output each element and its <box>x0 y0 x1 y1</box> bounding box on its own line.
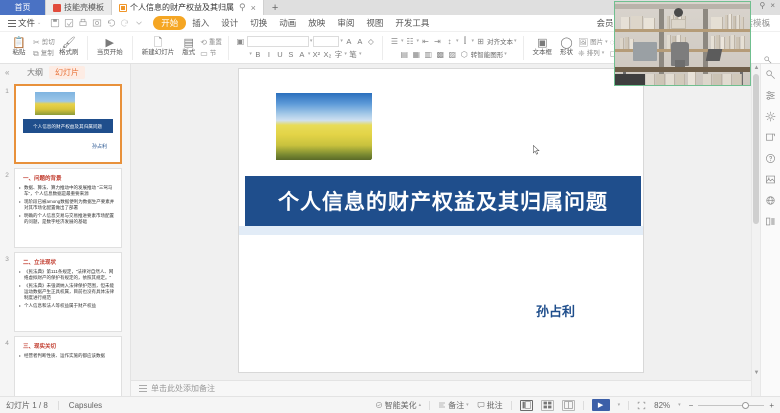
align-justify-icon[interactable]: ▩ <box>435 49 446 60</box>
align-left-icon[interactable]: ▤ <box>399 49 410 60</box>
paste-icon: 📋 <box>12 38 26 49</box>
slide-thumbnail-1[interactable]: 个人信息的财产权益及其归属问题 孙占利 <box>14 84 122 164</box>
font-name-input[interactable] <box>247 36 309 47</box>
font-group: ▣ ▾ ▾ A A ◇ ▾ B I U S A ▾ X² X₂ 字 ▾ <box>231 32 380 64</box>
align-center-icon[interactable]: ▦ <box>411 49 422 60</box>
indent-increase-icon[interactable]: ⇥ <box>432 36 443 47</box>
picture-button[interactable]: 🖼图片▾ <box>578 38 608 47</box>
book <box>741 17 744 29</box>
pin-icon[interactable]: ⚲ <box>239 2 246 13</box>
slide-navigator-panel: « 大纲 幻灯片 1 个人信息的财产权益及其归属问题 孙占利 <box>0 64 131 396</box>
align-distribute-icon[interactable]: ▨ <box>447 49 458 60</box>
divider <box>382 36 383 60</box>
picture-label: 图片 <box>590 38 603 47</box>
divider <box>628 401 629 410</box>
tab-design[interactable]: 设计 <box>215 16 244 30</box>
zoom-slider[interactable]: − + <box>689 401 774 410</box>
notes-toggle-button[interactable]: 备注 ▾ <box>438 400 469 411</box>
fit-to-window-icon <box>637 401 646 410</box>
storage-box <box>646 74 655 86</box>
format-painter-button[interactable]: 🖌 格式刷 <box>57 38 81 57</box>
list-item[interactable]: 1 个人信息的财产权益及其归属问题 孙占利 <box>0 82 130 166</box>
start-from-current-button[interactable]: ▶ 当页开始 <box>94 38 126 57</box>
font-row-2: ▾ B I U S A ▾ X² X₂ 字 ▾ 笔 ▾ <box>249 49 361 60</box>
tab-start[interactable]: 开始 <box>153 16 186 30</box>
comments-button[interactable]: 批注 <box>477 400 503 411</box>
storage-box <box>703 74 712 86</box>
storage-box <box>733 74 742 86</box>
superscript-button[interactable]: X² <box>311 49 321 60</box>
textbox-label: 文本框 <box>533 50 553 57</box>
thumbnail-bullet: 经营者判断性质、运作实施的都应该数据 <box>24 353 115 359</box>
chevron-down-icon[interactable]: ▾ <box>401 38 404 44</box>
storage-box <box>666 74 675 86</box>
chevron-down-icon[interactable]: ▾ <box>514 38 517 44</box>
reading-view-icon[interactable] <box>562 400 575 411</box>
collapse-panel-button[interactable]: « <box>5 68 21 77</box>
bullets-icon[interactable]: ☰ <box>389 36 400 47</box>
chevron-down-icon: ⌄ <box>37 20 41 26</box>
theme-name[interactable]: Capsules <box>69 401 102 410</box>
slide-thumbnail-list[interactable]: 1 个人信息的财产权益及其归属问题 孙占利 2 一、问题的背景 数据、算法、算力 <box>0 81 130 396</box>
status-bar: 幻灯片 1 / 8 Capsules 智能美化 ▴ 备注 ▾ 批注 <box>0 396 780 413</box>
storage-box <box>656 74 665 86</box>
shape-icon: ◯ <box>560 38 572 49</box>
column-layout-icon[interactable]: ⫿ <box>459 36 470 47</box>
scrollbar-thumb[interactable] <box>753 74 759 224</box>
ribbon-tabs: 开始 插入 设计 切换 动画 放映 审阅 视图 开发工具 <box>153 16 435 30</box>
thumbnail-bullet: 个人信息和法人等权益属于财产权益 <box>24 303 115 309</box>
book <box>725 15 728 29</box>
help-circle-icon[interactable] <box>764 152 777 165</box>
book <box>729 14 732 29</box>
divider <box>132 36 133 60</box>
ppt-doc-icon <box>119 4 127 12</box>
print-icon[interactable] <box>78 18 88 28</box>
slide-counter: 幻灯片 1 / 8 <box>6 400 48 411</box>
divider <box>429 401 430 410</box>
chevron-down-icon[interactable]: ▾ <box>471 38 474 44</box>
paste-label: 粘贴 <box>13 50 26 57</box>
notes-pane[interactable]: 单击此处添加备注 <box>131 380 751 396</box>
strikethrough-button[interactable]: S <box>286 49 296 60</box>
clipboard-small-buttons: ✂剪切 ⧉复制 <box>33 38 55 58</box>
slide-number: 2 <box>2 168 12 179</box>
layout-label: 版式 <box>182 50 195 57</box>
slide-canvas[interactable]: 个人信息的财产权益及其归属问题 孙占利 <box>239 69 643 372</box>
picture-icon: 🖼 <box>578 38 588 47</box>
tab-template-doc[interactable]: 技能壳模板 <box>46 0 112 15</box>
camera-overlay-side-controls: ⌃ <box>763 22 773 67</box>
zoom-track[interactable] <box>698 405 764 406</box>
save-as-icon[interactable] <box>64 18 74 28</box>
reset-label: 重置 <box>209 38 222 47</box>
slideshow-group: ▶ 当页开始 <box>90 32 130 64</box>
book <box>716 35 720 49</box>
start-here-label: 当页开始 <box>97 50 123 57</box>
slides-group: 🗋 新建幻灯片 ▤ 版式 ⟲重置 ▭节 <box>135 32 226 64</box>
book <box>625 37 629 49</box>
tab-slideshow[interactable]: 放映 <box>302 16 331 30</box>
tab-slides[interactable]: 幻灯片 <box>49 66 85 79</box>
new-slide-button[interactable]: 🗋 新建幻灯片 <box>139 38 178 57</box>
text-effects-icon[interactable]: ▣ <box>235 36 246 47</box>
slide-number: 4 <box>2 336 12 347</box>
section-label: 节 <box>210 49 217 58</box>
laptop <box>706 49 723 61</box>
reset-icon: ⟲ <box>200 38 207 47</box>
fit-to-window-button[interactable] <box>637 401 646 410</box>
camera-overlay-controls: ⚲ × <box>759 1 775 10</box>
indent-decrease-icon[interactable]: ⇤ <box>420 36 431 47</box>
smart-beautify-button[interactable]: 智能美化 ▴ <box>375 400 422 411</box>
chevron-down-icon[interactable]: ▾ <box>340 38 343 44</box>
tab-review[interactable]: 审阅 <box>331 16 360 30</box>
scroll-up-arrow[interactable]: ▲ <box>753 65 760 71</box>
text-align-icon[interactable]: ⊞ <box>475 36 486 47</box>
adjust-sliders-icon[interactable] <box>764 89 777 102</box>
slide-number: 1 <box>2 84 12 95</box>
tab-animation[interactable]: 动画 <box>273 16 302 30</box>
thumbnail-photo <box>34 91 76 116</box>
print-preview-icon[interactable] <box>92 18 102 28</box>
bold-button[interactable]: B <box>253 49 263 60</box>
storage-box <box>676 74 685 86</box>
book <box>621 17 630 29</box>
home-tab-label: 首页 <box>15 2 31 13</box>
list-item[interactable]: 3 二、立法现状 《民法典》第111条规定，"法律对自然人、网络虚拟财产的保护有… <box>0 250 130 334</box>
book <box>731 35 735 49</box>
line-spacing-icon[interactable]: ↕ <box>444 36 455 47</box>
textbox-icon: ▣ <box>537 38 547 49</box>
tab-insert[interactable]: 插入 <box>186 16 215 30</box>
thumbnail-bullet: 明确的个人信息交易与交易推进要素市场配置的问题，是数字经济发展的基础 <box>24 213 115 225</box>
storage-box <box>723 74 732 86</box>
slide-canvas-container[interactable]: 个人信息的财产权益及其归属问题 孙占利 <box>131 64 751 380</box>
settings-icon[interactable] <box>763 55 773 67</box>
chevron-up-icon[interactable]: ▴ <box>419 402 422 408</box>
list-item[interactable]: 2 一、问题的背景 数据、算法、算力推动中的发展推动 "三驾马车"，个人信息数据… <box>0 166 130 250</box>
brush-design-icon[interactable] <box>764 68 777 81</box>
ceiling-beam <box>615 4 751 9</box>
shelf-board <box>615 29 750 32</box>
undo-icon[interactable] <box>106 18 116 28</box>
storage-box <box>688 72 696 86</box>
slide-number: 3 <box>2 252 12 263</box>
wps-presentation-window: 首页 技能壳模板 个人信息的财产权益及其归属 ⚲ × + 文件 ⌄ <box>0 0 780 413</box>
thumbnail-title-bar: 个人信息的财产权益及其归属问题 <box>23 119 113 133</box>
comments-label: 批注 <box>487 400 503 411</box>
scissors-icon: ✂ <box>33 38 40 47</box>
char-shading-button[interactable]: 字 <box>333 49 343 60</box>
section-button[interactable]: ▭节 <box>200 49 222 58</box>
divider <box>511 401 512 410</box>
notes-placeholder: 单击此处添加备注 <box>151 383 215 394</box>
decor-sphere <box>674 8 683 17</box>
scroll-down-arrow[interactable]: ▼ <box>753 370 760 376</box>
ai-sphere-icon[interactable] <box>764 194 777 207</box>
cut-button[interactable]: ✂剪切 <box>33 38 55 47</box>
book <box>737 15 740 29</box>
book-box <box>644 18 655 29</box>
zoom-in-button[interactable]: + <box>769 401 774 410</box>
book <box>736 37 740 49</box>
tab-developer[interactable]: 开发工具 <box>389 16 435 30</box>
book <box>667 16 670 29</box>
camera-feed-overlay[interactable] <box>614 1 751 86</box>
thumbnail-title: 三、现实关切 <box>23 342 121 350</box>
copy-button[interactable]: ⧉复制 <box>33 49 55 58</box>
close-icon[interactable]: × <box>251 3 256 13</box>
camera-scene <box>615 2 750 85</box>
brush-icon: 🖌 <box>62 38 76 49</box>
title-underline-band <box>239 226 643 235</box>
wps-doc-icon <box>53 4 61 12</box>
chevron-down-icon[interactable]: ▾ <box>249 51 252 57</box>
thumbnail-bullet: 数据、算法、算力推动中的发展推动 "三驾马车"，个人信息数据是最重要来源 <box>24 185 115 197</box>
divider <box>583 401 584 410</box>
file-menu-label: 文件 <box>18 17 35 29</box>
zoom-knob[interactable] <box>742 402 749 409</box>
highlight-button[interactable]: 笔 <box>348 49 358 60</box>
new-slide-label: 新建幻灯片 <box>142 50 175 57</box>
redo-icon[interactable] <box>120 18 130 28</box>
chevron-down-icon[interactable]: ▾ <box>344 51 347 57</box>
divider <box>228 36 229 60</box>
para-row-2: ▤ ▦ ▥ ▩ ▨ ⬡ 转智能图形▾ <box>399 49 507 60</box>
book <box>741 36 745 49</box>
thumbnail-author: 孙占利 <box>92 143 107 150</box>
font-row-1: ▣ ▾ ▾ A A ◇ <box>235 36 376 47</box>
save-icon[interactable] <box>50 18 60 28</box>
status-bar-right: 智能美化 ▴ 备注 ▾ 批注 ▶ <box>375 399 774 411</box>
chevron-down-icon[interactable]: ▾ <box>602 49 605 58</box>
comment-icon <box>477 401 485 409</box>
tab-template-label: 技能壳模板 <box>64 2 104 13</box>
thumbnail-title: 个人信息的财产权益及其归属问题 <box>33 123 102 129</box>
format-painter-label: 格式刷 <box>59 50 79 57</box>
chevron-down-icon[interactable]: ▾ <box>308 51 311 57</box>
slide-author[interactable]: 孙占利 <box>536 301 575 320</box>
right-tool-rail <box>760 64 780 396</box>
slide-thumbnail-2[interactable]: 一、问题的背景 数据、算法、算力推动中的发展推动 "三驾马车"，个人信息数据是最… <box>14 168 122 248</box>
slide-editor-area: 个人信息的财产权益及其归属问题 孙占利 单击此处添加备注 <box>131 64 751 396</box>
shelf-post <box>659 6 664 76</box>
slide-photo[interactable] <box>272 89 376 164</box>
copy-label: 复制 <box>41 49 54 58</box>
tab-view[interactable]: 视图 <box>360 16 389 30</box>
reset-button[interactable]: ⟲重置 <box>200 38 222 47</box>
desk-top <box>615 67 751 72</box>
drawing-small-buttons: 🖼图片▾ ❈排列▾ <box>578 38 608 58</box>
arrange-icon: ❈ <box>578 49 585 58</box>
zoom-out-button[interactable]: − <box>689 401 694 410</box>
decor-box <box>671 19 686 29</box>
elements-icon[interactable] <box>764 131 777 144</box>
chevron-down-icon[interactable]: ▾ <box>456 38 459 44</box>
customize-toolbar-icon[interactable] <box>134 18 144 28</box>
paragraph-group: ☰▾ ☷▾ ⇤ ⇥ ↕▾ ⫿▾ ⊞ 对齐文本▾ ▤ ▦ ▥ ▩ ▨ ⬡ 转智能图… <box>385 32 521 64</box>
book-box <box>711 17 723 29</box>
convert-smartart-label: 转智能图形 <box>471 49 504 59</box>
tab-transition[interactable]: 切换 <box>244 16 273 30</box>
italic-button[interactable]: I <box>264 49 274 60</box>
tab-active-label: 个人信息的财产权益及其归属 <box>130 2 234 13</box>
hamburger-icon <box>8 20 16 27</box>
page-title: 个人信息的财产权益及其归属问题 <box>278 186 608 216</box>
slide-panel-header: « 大纲 幻灯片 <box>0 64 130 81</box>
grow-font-button[interactable]: A <box>344 36 354 47</box>
quick-access-toolbar <box>45 18 149 28</box>
underline-button[interactable]: U <box>275 49 285 60</box>
arrange-button[interactable]: ❈排列▾ <box>578 49 608 58</box>
notes-icon <box>139 385 147 392</box>
play-circle-icon: ▶ <box>105 38 113 49</box>
section-icon: ▭ <box>200 49 208 58</box>
book <box>721 37 725 49</box>
para-row-1: ☰▾ ☷▾ ⇤ ⇥ ↕▾ ⫿▾ ⊞ 对齐文本▾ <box>389 36 517 47</box>
notes-small-icon <box>438 401 446 409</box>
thumbnail-title: 一、问题的背景 <box>23 174 121 182</box>
textbox-button[interactable]: ▣ 文本框 <box>530 38 556 57</box>
monitor <box>633 42 657 61</box>
thumbnail-bullet: 现阶段已被among数据便利为数据生产要素并对其市场化配置做出了部署 <box>24 199 115 211</box>
book-box <box>631 16 643 29</box>
editor-body: « 大纲 幻灯片 1 个人信息的财产权益及其归属问题 孙占利 <box>0 64 780 396</box>
book <box>733 16 736 29</box>
mouse-cursor-icon <box>533 145 540 155</box>
slides-small-buttons: ⟲重置 ▭节 <box>200 38 222 58</box>
start-slideshow-button[interactable]: ▶ <box>592 399 610 411</box>
thumbnail-bullet: 《民法典》第111条规定，"法律对自然人、网络虚拟财产的保护有规定的，依照其规定… <box>24 269 115 281</box>
book <box>711 36 715 49</box>
clear-format-icon[interactable]: ◇ <box>366 36 376 47</box>
normal-view-icon[interactable] <box>520 400 533 411</box>
close-icon[interactable]: × <box>770 1 775 10</box>
divider <box>523 36 524 60</box>
home-tab[interactable]: 首页 <box>0 0 46 15</box>
divider <box>87 36 88 60</box>
tab-outline[interactable]: 大纲 <box>21 66 49 79</box>
pin-icon[interactable]: ⚲ <box>759 1 765 10</box>
chevron-up-icon[interactable]: ⌃ <box>764 22 772 33</box>
chevron-down-icon[interactable]: ▾ <box>416 38 419 44</box>
compare-view-icon[interactable] <box>764 215 777 228</box>
zoom-level-label[interactable]: 82% <box>654 401 670 410</box>
new-slide-icon: 🗋 <box>154 38 163 49</box>
slideshow-options-caret[interactable]: ▾ <box>618 402 621 408</box>
file-menu-button[interactable]: 文件 ⌄ <box>4 17 45 29</box>
numbering-icon[interactable]: ☷ <box>404 36 415 47</box>
smartart-icon[interactable]: ⬡ <box>459 49 470 60</box>
layout-button[interactable]: ▤ 版式 <box>179 38 198 57</box>
chevron-down-icon[interactable]: ▾ <box>359 51 362 57</box>
book <box>620 38 624 49</box>
list-item[interactable]: 4 三、现实关切 经营者判断性质、运作实施的都应该数据 <box>0 334 130 396</box>
vertical-scrollbar[interactable]: ▲ ▼ <box>751 64 760 396</box>
shape-label: 形状 <box>560 50 573 57</box>
tab-active-presentation[interactable]: 个人信息的财产权益及其归属 ⚲ × <box>112 0 264 15</box>
slide-thumbnail-3[interactable]: 二、立法现状 《民法典》第111条规定，"法律对自然人、网络虚拟财产的保护有规定… <box>14 252 122 332</box>
slide-thumbnail-4[interactable]: 三、现实关切 经营者判断性质、运作实施的都应该数据 <box>14 336 122 396</box>
image-library-icon[interactable] <box>764 173 777 186</box>
shrink-font-button[interactable]: A <box>355 36 365 47</box>
layout-icon: ▤ <box>184 38 194 49</box>
chevron-down-icon[interactable]: ▾ <box>605 38 608 47</box>
smart-beautify-label: 智能美化 <box>385 400 417 411</box>
chevron-down-icon[interactable]: ▾ <box>466 402 469 408</box>
subscript-button[interactable]: X₂ <box>322 49 332 60</box>
new-tab-button[interactable]: + <box>264 0 286 15</box>
zoom-caret-icon[interactable]: ▾ <box>678 402 681 408</box>
book <box>726 36 730 49</box>
effects-icon[interactable] <box>764 110 777 123</box>
thumbnail-bullet: 《民法典》未强调纳入法律保护范围，但未能运动数据产生正具权属，目前也没有具体法律… <box>24 283 115 301</box>
shelf-post <box>703 6 708 76</box>
arrange-label: 排列 <box>587 49 600 58</box>
cut-label: 剪切 <box>42 38 55 47</box>
font-size-input[interactable] <box>313 36 339 47</box>
text-color-button[interactable]: A <box>297 49 307 60</box>
divider <box>58 401 59 410</box>
shape-button[interactable]: ◯ 形状 <box>557 38 576 57</box>
slide-sorter-icon[interactable] <box>541 400 554 411</box>
thumbnail-title: 二、立法现状 <box>23 258 121 266</box>
paste-button[interactable]: 📋 粘贴 <box>7 38 31 57</box>
clipboard-group: 📋 粘贴 ✂剪切 ⧉复制 🖌 格式刷 <box>3 32 85 64</box>
copy-icon: ⧉ <box>33 49 39 58</box>
align-text-label: 对齐文本 <box>487 36 513 46</box>
notes-toggle-label: 备注 <box>448 400 464 411</box>
chevron-down-icon[interactable]: ▾ <box>504 51 507 57</box>
chevron-down-icon[interactable]: ▾ <box>310 38 313 44</box>
align-right-icon[interactable]: ▥ <box>423 49 434 60</box>
cabinet-dark <box>615 74 645 86</box>
storage-box <box>713 74 722 86</box>
magic-wand-icon <box>375 401 383 409</box>
slide-title-placeholder[interactable]: 个人信息的财产权益及其归属问题 <box>245 176 641 226</box>
